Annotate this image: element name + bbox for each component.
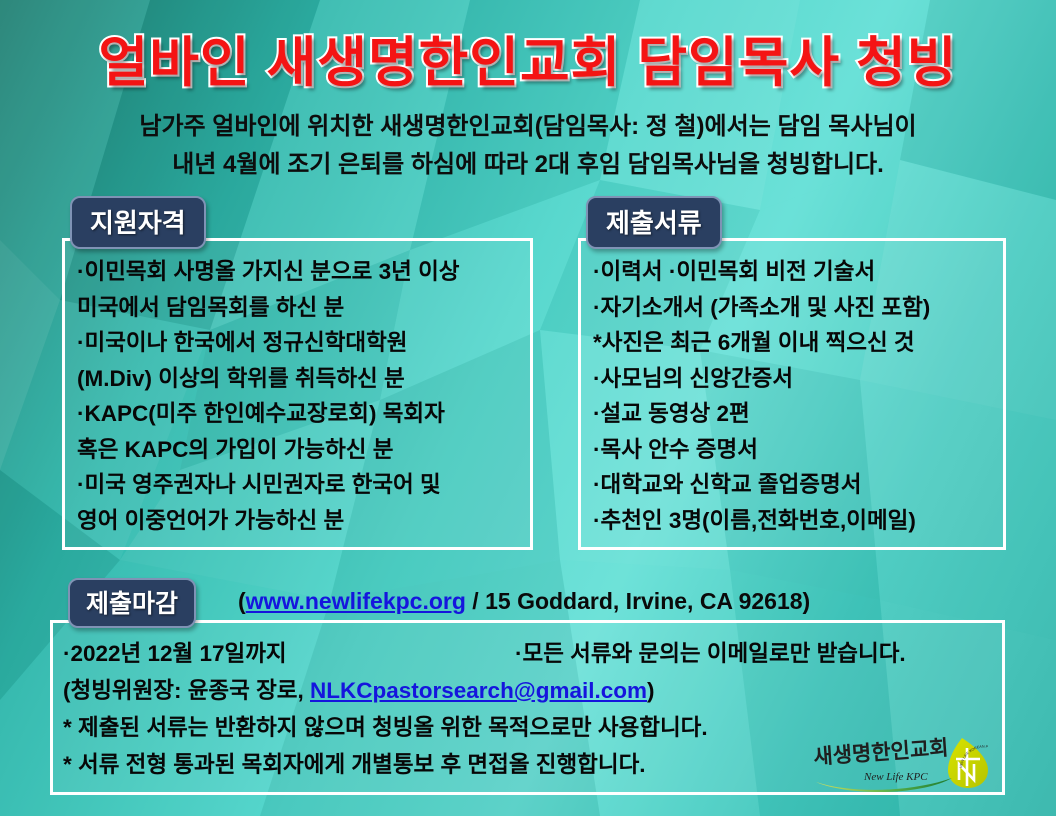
list-item: *사진은 최근 6개월 이내 찍으신 것 [593,325,1003,361]
church-address-line: (www.newlifekpc.org / 15 Goddard, Irvine… [238,588,810,615]
deadline-row-contact: (청빙위원장: 윤종국 장로, NLKCpastorsearch@gmail.c… [63,672,1002,709]
list-item: ·KAPC(미주 한인예수교장로회) 목회자 [77,396,530,432]
list-item: ·미국 영주권자나 시민권자로 한국어 및 [77,467,530,503]
list-item: ·목사 안수 증명서 [593,432,1003,468]
page-subtitle: 남가주 얼바인에 위치한 새생명한인교회(담임목사: 정 철)에서는 담임 목사… [60,108,996,184]
deadline-date: ·2022년 12월 17일까지 [63,635,515,672]
qualifications-panel: ·이민목회 사명올 가지신 분으로 3년 이상 미국에서 담임목회를 하신 분 … [62,238,533,550]
list-item: ·미국이나 한국에서 정규신학대학원 [77,325,530,361]
list-item: (M.Div) 이상의 학위를 취득하신 분 [77,361,530,397]
committee-chair-prefix: (청빙위원장: 윤종국 장로, [63,678,310,703]
list-item: 미국에서 담임목회를 하신 분 [77,290,530,326]
section-badge-qualifications: 지원자격 [70,196,206,249]
email-link[interactable]: NLKCpastorsearch@gmail.com [310,678,647,703]
page-title: 얼바인 새생명한인교회 담임목사 청빙 [0,18,1056,97]
list-item: ·추천인 3명(이름,전화번호,이메일) [593,503,1003,539]
documents-panel: ·이력서 ·이민목회 비전 기술서 ·자기소개서 (가족소개 및 사진 포함) … [578,238,1006,550]
logo-korean-name: 새생명한인교회 [813,737,950,769]
qualifications-list: ·이민목회 사명올 가지신 분으로 3년 이상 미국에서 담임목회를 하신 분 … [77,254,530,538]
list-item: ·설교 동영상 2편 [593,396,1003,432]
logo-english-name: New Life KPC [863,771,928,783]
address-text: / 15 Goddard, Irvine, CA 92618) [466,588,810,614]
list-item: ·사모님의 신앙간증서 [593,361,1003,397]
section-badge-deadline: 제출마감 [68,578,196,628]
documents-list: ·이력서 ·이민목회 비전 기술서 ·자기소개서 (가족소개 및 사진 포함) … [593,254,1003,538]
church-logo: NEW LIFE KOREAN PRESBYTERIAN CHURCH 새생명한… [812,734,1002,796]
address-open-paren: ( [238,588,246,614]
subtitle-line-2: 내년 4월에 조기 은퇴를 하심에 따라 2대 후임 담임목사님올 청빙합니다. [60,146,996,184]
list-item: 영어 이중언어가 가능하신 분 [77,503,530,539]
list-item: 혹은 KAPC의 가입이 가능하신 분 [77,432,530,468]
list-item: ·이력서 ·이민목회 비전 기술서 [593,254,1003,290]
list-item: ·이민목회 사명올 가지신 분으로 3년 이상 [77,254,530,290]
list-item: ·자기소개서 (가족소개 및 사진 포함) [593,290,1003,326]
website-link[interactable]: www.newlifekpc.org [246,588,466,614]
section-badge-documents: 제출서류 [586,196,722,249]
list-item: ·대학교와 신학교 졸업증명서 [593,467,1003,503]
poster-root: 얼바인 새생명한인교회 담임목사 청빙 남가주 얼바인에 위치한 새생명한인교회… [0,0,1056,816]
deadline-row-date: ·2022년 12월 17일까지 ·모든 서류와 문의는 이메일로만 받습니다. [63,635,1002,672]
subtitle-line-1: 남가주 얼바인에 위치한 새생명한인교회(담임목사: 정 철)에서는 담임 목사… [60,108,996,146]
deadline-email-only-note: ·모든 서류와 문의는 이메일로만 받습니다. [515,635,906,672]
committee-chair-suffix: ) [647,678,655,703]
